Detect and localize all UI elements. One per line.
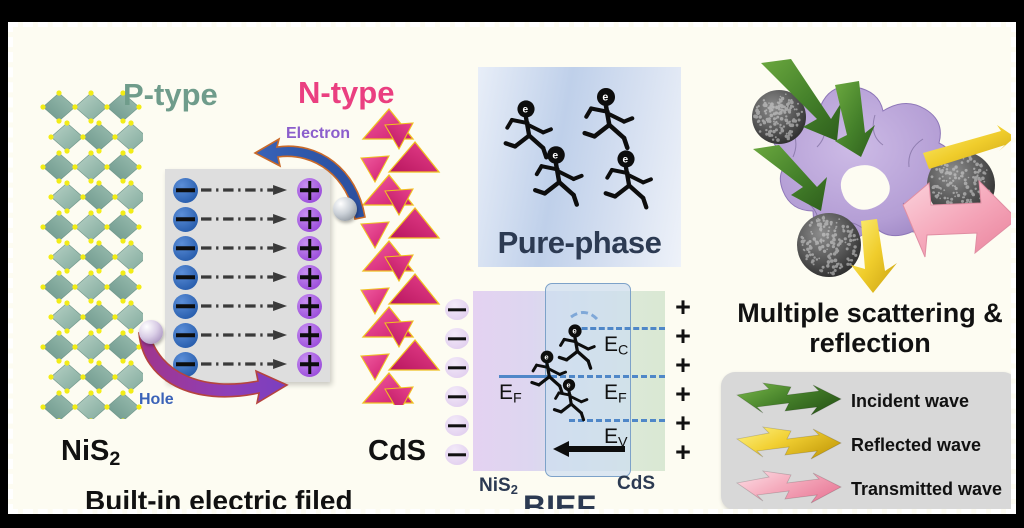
electron-runner: e	[559, 324, 594, 368]
electron-sphere	[333, 197, 357, 221]
negative-charge-icon	[173, 207, 198, 232]
band-positive-charge: +	[672, 326, 694, 348]
band-positive-charge: +	[672, 355, 694, 377]
band-nis2-label: NiS2	[479, 475, 518, 497]
figure-root: P-type N-type	[0, 0, 1024, 528]
nis2-crystal-structure	[35, 89, 143, 419]
svg-text:e: e	[544, 353, 548, 362]
legend-label: Transmitted wave	[851, 479, 1002, 500]
band-label-ev: EV	[604, 425, 628, 451]
band-negative-charge	[445, 386, 469, 407]
legend-row: Transmitted wave	[721, 466, 1016, 512]
electron-runner: e	[535, 146, 581, 204]
scattering-title: Multiple scattering & reflection	[717, 299, 1016, 358]
transmitted-wave-arrow	[735, 469, 843, 509]
legend-row: Reflected wave	[721, 422, 1016, 468]
band-negative-charge	[445, 444, 469, 465]
pure-phase-title: Pure-phase	[478, 225, 681, 261]
bief-label: BIEF	[523, 489, 596, 514]
svg-text:e: e	[602, 92, 608, 104]
electron-runner: e	[585, 88, 633, 148]
figure-frame: P-type N-type	[8, 22, 1016, 514]
band-diagram-runners: e e e	[513, 301, 633, 441]
band-label-ec: EC	[604, 333, 628, 359]
negative-charge-icon	[173, 265, 198, 290]
positive-charge-icon	[297, 294, 322, 319]
hole-label: Hole	[139, 391, 174, 409]
built-in-field-caption: Built-in electric filed	[85, 485, 353, 514]
svg-text:e: e	[566, 381, 570, 390]
field-line-arrow	[201, 300, 294, 312]
field-row	[165, 262, 330, 292]
band-negative-charge	[445, 299, 469, 320]
field-line-arrow	[201, 242, 294, 254]
negative-charge-icon	[173, 178, 198, 203]
nis2-material-label: NiS2	[61, 435, 120, 471]
incident-wave-arrow	[735, 381, 843, 421]
band-negative-charge	[445, 357, 469, 378]
negative-charge-icon	[173, 294, 198, 319]
svg-text:e: e	[522, 105, 528, 116]
multiple-scattering-illustration	[717, 53, 1016, 293]
field-row	[165, 291, 330, 321]
band-positive-charge: +	[672, 297, 694, 319]
positive-charge-icon	[297, 236, 322, 261]
wave-legend-box: Incident wave Reflected wave Transmitted…	[721, 372, 1016, 510]
band-label-ef-left: EF	[499, 381, 522, 407]
pure-phase-panel: e e e e	[478, 67, 681, 267]
p-type-label: P-type	[123, 77, 218, 113]
n-type-label: N-type	[298, 75, 394, 111]
band-positive-charge: +	[672, 442, 694, 464]
band-positive-charge: +	[672, 384, 694, 406]
positive-charge-icon	[297, 323, 322, 348]
cds-material-label: CdS	[368, 435, 426, 468]
band-negative-charge	[445, 328, 469, 349]
legend-label: Incident wave	[851, 391, 969, 412]
band-cds-label: CdS	[617, 473, 655, 495]
field-line-arrow	[201, 271, 294, 283]
positive-charge-icon	[297, 265, 322, 290]
legend-label: Reflected wave	[851, 435, 981, 456]
band-negative-charge	[445, 415, 469, 436]
legend-row: Incident wave	[721, 378, 1016, 424]
electron-label: Electron	[286, 125, 350, 143]
field-row	[165, 233, 330, 263]
band-diagram-panel: ++++++ e e e	[441, 289, 706, 514]
negative-charge-icon	[173, 236, 198, 261]
reflected-wave-arrow	[735, 425, 843, 465]
electron-runner: e	[606, 150, 651, 207]
svg-text:e: e	[552, 151, 558, 162]
hole-sphere	[139, 320, 163, 344]
positive-charge-icon	[297, 352, 322, 377]
electron-runner: e	[506, 100, 551, 157]
band-positive-charge: +	[672, 413, 694, 435]
band-label-ef-right: EF	[604, 381, 627, 407]
svg-text:e: e	[572, 327, 577, 336]
pure-phase-runners: e e e e	[478, 67, 681, 237]
svg-text:e: e	[622, 155, 628, 166]
